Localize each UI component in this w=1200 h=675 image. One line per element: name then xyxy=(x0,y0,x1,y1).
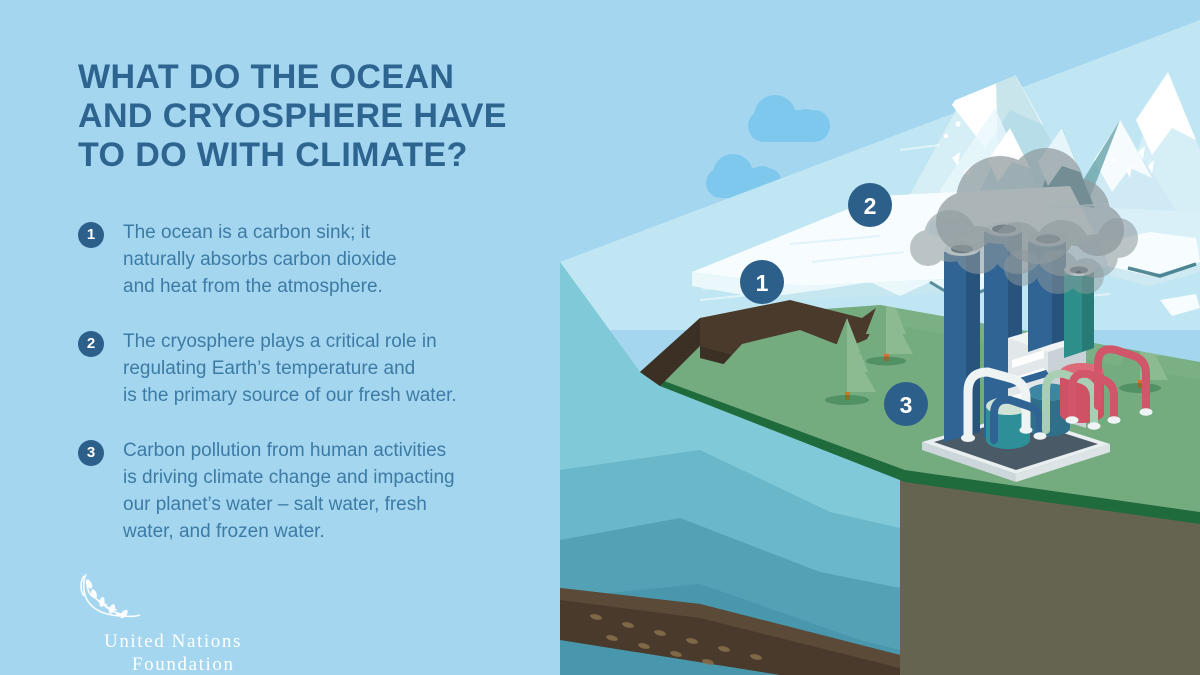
marker-2-number: 2 xyxy=(864,193,877,219)
fact-2-line-2: regulating Earth’s temperature and xyxy=(123,355,548,382)
fact-badge-2: 2 xyxy=(78,331,104,357)
fact-item-2: 2 The cryosphere plays a critical role i… xyxy=(78,328,548,409)
logo-line-2: Foundation xyxy=(132,654,306,675)
title-line-1: What do the ocean xyxy=(78,58,548,97)
fact-3-line-1: Carbon pollution from human activities xyxy=(123,437,548,464)
fact-1-line-2: naturally absorbs carbon dioxide xyxy=(123,246,548,273)
fact-badge-1: 1 xyxy=(78,222,104,248)
title-line-3: to do with climate? xyxy=(78,136,548,175)
fact-3-line-2: is driving climate change and impacting xyxy=(123,464,548,491)
fact-2-line-1: The cryosphere plays a critical role in xyxy=(123,328,548,355)
marker-3[interactable]: 3 xyxy=(884,382,928,426)
un-foundation-logo: United Nations Foundation xyxy=(76,570,306,675)
facts-list: 1 The ocean is a carbon sink; it natural… xyxy=(78,219,548,545)
fact-3-line-4: water, and frozen water. xyxy=(123,518,548,545)
title-line-2: and cryosphere have xyxy=(78,97,548,136)
logo-laurel-icon xyxy=(76,570,306,626)
text-column: What do the ocean and cryosphere have to… xyxy=(78,58,548,573)
fact-item-3: 3 Carbon pollution from human activities… xyxy=(78,437,548,545)
fact-1-line-1: The ocean is a carbon sink; it xyxy=(123,219,548,246)
marker-2[interactable]: 2 xyxy=(848,183,892,227)
fact-3-line-3: our planet’s water – salt water, fresh xyxy=(123,491,548,518)
fact-text-1: The ocean is a carbon sink; it naturally… xyxy=(123,219,548,300)
page-title: What do the ocean and cryosphere have to… xyxy=(78,58,548,175)
logo-line-1: United Nations xyxy=(104,631,306,653)
marker-1[interactable]: 1 xyxy=(740,260,784,304)
fact-text-3: Carbon pollution from human activities i… xyxy=(123,437,548,545)
fact-1-line-3: and heat from the atmosphere. xyxy=(123,273,548,300)
fact-2-line-3: is the primary source of our fresh water… xyxy=(123,382,548,409)
marker-3-number: 3 xyxy=(900,392,913,418)
infographic-poster: 1 2 3 What do the ocean and cryosphere h… xyxy=(0,0,1200,675)
marker-1-number: 1 xyxy=(756,270,769,296)
fact-text-2: The cryosphere plays a critical role in … xyxy=(123,328,548,409)
fact-badge-3: 3 xyxy=(78,440,104,466)
fact-item-1: 1 The ocean is a carbon sink; it natural… xyxy=(78,219,548,300)
